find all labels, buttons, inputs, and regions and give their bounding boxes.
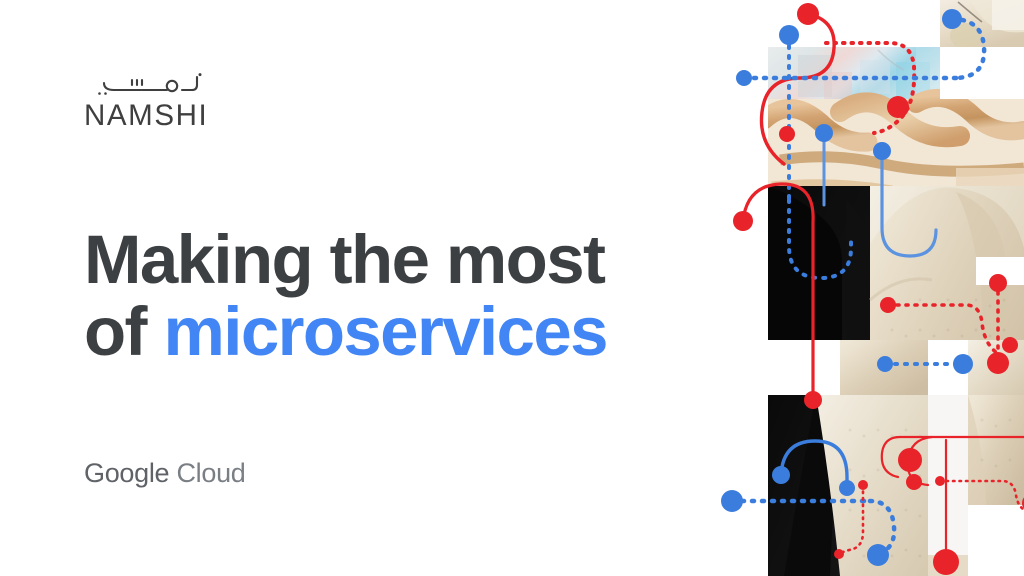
node-red (834, 549, 844, 559)
node-blue (779, 25, 799, 45)
node-blue (736, 70, 752, 86)
headline-prefix: of (84, 293, 164, 370)
node-red (989, 274, 1007, 292)
node-blue (772, 466, 790, 484)
node-red (935, 476, 945, 486)
cloud-wordmark: Cloud (176, 458, 245, 488)
node-red (797, 3, 819, 25)
node-red (804, 391, 822, 409)
node-blue (721, 490, 743, 512)
google-cloud-logo: Google Cloud (84, 460, 246, 487)
collage-graphic (720, 0, 1024, 576)
node-blue (877, 356, 893, 372)
namshi-logo: NAMSHI (84, 72, 314, 131)
node-blue (867, 544, 889, 566)
namshi-arabic-logo-icon (84, 72, 202, 98)
node-red (779, 126, 795, 142)
node-blue (815, 124, 833, 142)
headline-line-2: of microservices (84, 296, 684, 368)
node-red (898, 448, 922, 472)
google-wordmark: Google (84, 458, 169, 488)
photo-collage (720, 0, 1024, 576)
node-blue (839, 480, 855, 496)
node-red (906, 474, 922, 490)
node-red (880, 297, 896, 313)
collage-tile-bottom (768, 395, 1024, 576)
node-red (1002, 337, 1018, 353)
node-red (858, 480, 868, 490)
node-red (933, 549, 959, 575)
namshi-wordmark: NAMSHI (84, 101, 314, 131)
headline-line-1: Making the most (84, 224, 684, 296)
node-red (733, 211, 753, 231)
node-blue (873, 142, 891, 160)
node-red (987, 352, 1009, 374)
node-blue (942, 9, 962, 29)
slide-root: NAMSHI Making the most of microservices … (0, 0, 1024, 576)
page-title: Making the most of microservices (84, 224, 684, 368)
node-blue (953, 354, 973, 374)
headline-accent: microservices (164, 293, 607, 370)
node-red (887, 96, 909, 118)
